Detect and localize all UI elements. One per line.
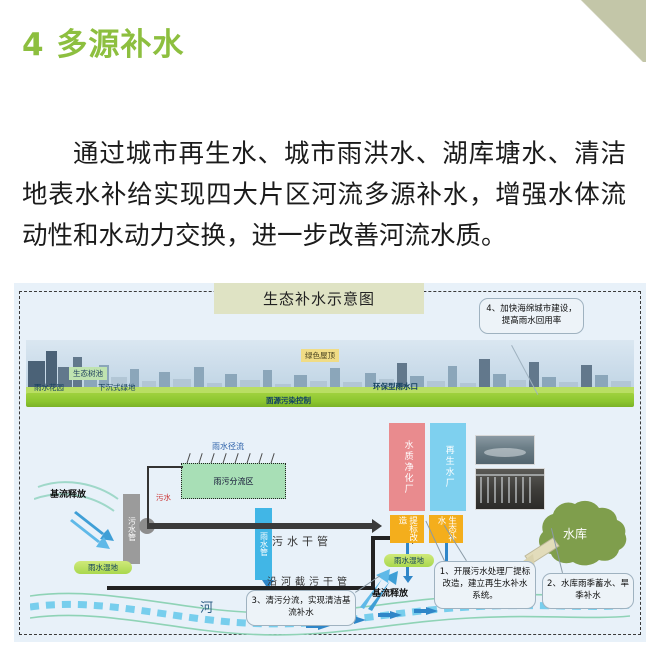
page-title: 4 多源补水	[22, 27, 184, 64]
label-rain-runoff: 雨水径流	[212, 441, 244, 452]
reclaimed-water-plant: 再生水厂	[430, 423, 466, 511]
rain-sewage-separation-zone: 雨污分流区	[181, 463, 286, 499]
label-sewage-trunk: 污水干管	[272, 533, 332, 549]
label-baseflow-left: 基流释放	[50, 487, 86, 500]
baseflow-left-graphic	[34, 473, 144, 553]
label-reservoir: 水库	[563, 525, 587, 542]
callout-1[interactable]: 1、开展污水处理厂提标改造，建立再生水补水系统。	[434, 561, 536, 609]
label-sunken-green: 下沉式绿地	[94, 381, 140, 394]
body-paragraph: 通过城市再生水、城市雨洪水、湖库塘水、清洁地表水补给实现四大片区河流多源补水，增…	[22, 134, 626, 258]
label-river-left: 河	[200, 597, 213, 616]
upgrade-retrofit-tag: 提标改造	[390, 515, 424, 543]
reclaimed-water-plant-label: 再生水厂	[442, 445, 453, 489]
sewage-trunk-arrow	[372, 519, 382, 533]
label-wastewater: 污水	[156, 492, 171, 503]
upgrade-retrofit-label: 提标改造	[396, 516, 417, 542]
sewage-branch-riser	[147, 466, 149, 524]
corner-decoration	[568, 0, 646, 62]
rain-pipe-box: 雨水管	[255, 508, 272, 580]
treatment-plant-aerial-photo	[475, 435, 535, 465]
water-quality-plant: 水质净化厂	[389, 423, 425, 511]
water-quality-plant-label: 水质净化厂	[401, 440, 412, 495]
label-eco-rain-outlet: 环保型雨水口	[369, 380, 422, 393]
label-green-roof: 绿色屋顶	[301, 349, 339, 362]
callout-2[interactable]: 2、水库雨季蓄水、旱季补水	[542, 573, 634, 609]
label-eco-tree-pool: 生态树池	[69, 367, 107, 380]
eco-water-supply-diagram: 生态补水示意图	[14, 283, 646, 642]
label-rain-garden: 雨水花园	[30, 381, 68, 394]
wetland-left: 雨水湿地	[74, 561, 132, 574]
rain-pipe-label: 雨水管	[259, 532, 269, 556]
label-nonpoint-control: 面源污染控制	[262, 394, 315, 407]
sewage-branch-top	[147, 466, 183, 468]
sewage-trunk-line	[147, 523, 375, 529]
callout-3[interactable]: 3、清污分流，实现清洁基流补水	[246, 590, 356, 626]
diagram-title-banner: 生态补水示意图	[214, 283, 424, 314]
callout-4[interactable]: 4、加快海绵城市建设，提高雨水回用率	[479, 298, 584, 334]
green-band-lower	[26, 393, 634, 407]
label-baseflow-bottom: 基流释放	[372, 586, 408, 599]
